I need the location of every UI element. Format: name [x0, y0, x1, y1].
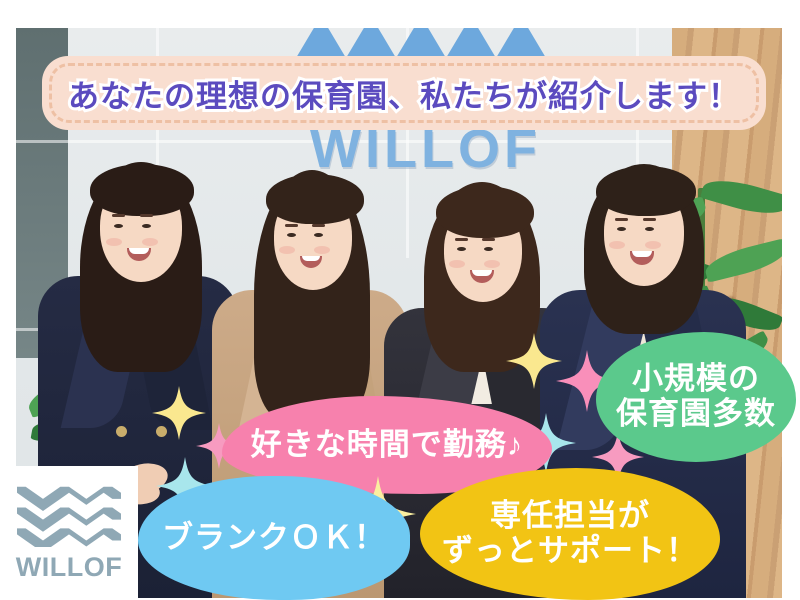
bubble-small-nursery-line-2: 保育園多数 [616, 397, 776, 432]
bubble-small-nursery: 小規模の 保育園多数 [596, 332, 796, 462]
bubble-flexible-hours-line-1: 好きな時間で勤務♪ [251, 428, 524, 463]
willof-wordmark: WILLOF [16, 552, 122, 583]
bubble-blank-ok: ブランクＯＫ！ [138, 476, 410, 600]
bubble-blank-ok-line-1: ブランクＯＫ！ [162, 521, 386, 556]
headline-text: あなたの理想の保育園、私たちが紹介します！ [68, 71, 740, 116]
bubble-dedicated-support-line-2: ずっとサポート！ [442, 534, 698, 569]
bubble-small-nursery-line-1: 小規模の [632, 362, 760, 397]
bubble-dedicated-support-line-1: 専任担当が [490, 499, 650, 534]
zigzag-chevron-icon [17, 485, 121, 547]
willof-logo: WILLOF [0, 466, 138, 600]
poster-canvas: WILLOF [0, 0, 800, 600]
headline-banner: あなたの理想の保育園、私たちが紹介します！ [42, 56, 766, 130]
sparkle-yellow-2 [506, 328, 562, 394]
